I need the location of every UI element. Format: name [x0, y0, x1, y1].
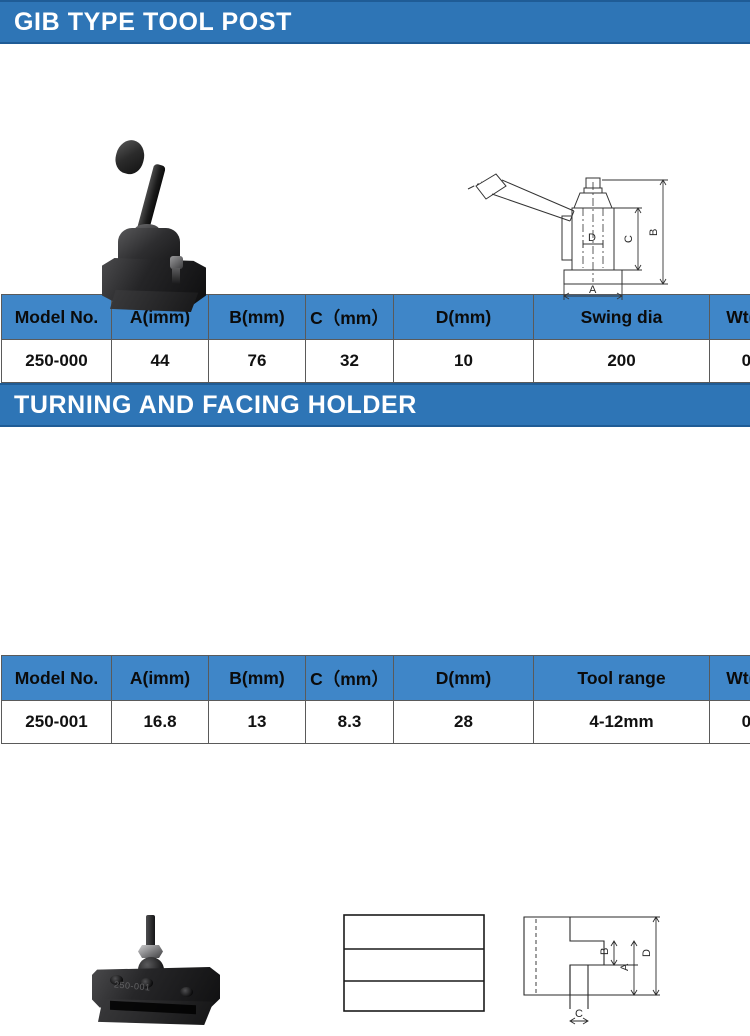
table-cell-a: 44: [112, 340, 209, 383]
table-header-cell: C（mm）: [306, 295, 394, 340]
table-cell-c: 32: [306, 340, 394, 383]
section-title-text: GIB TYPE TOOL POST: [14, 8, 292, 37]
table-cell-swing-dia: 200: [534, 340, 710, 383]
holder-front-view-drawing: [340, 911, 510, 1031]
table-row: 250-000 44 76 32 10 200 0.8: [2, 340, 750, 383]
drawing-label-d: D: [588, 232, 596, 244]
drawing-label-c: C: [575, 1008, 583, 1020]
tool-post-base: [110, 290, 202, 312]
table-header-row: Model No. A(imm) B(mm) C（mm） D(mm) Tool …: [2, 656, 750, 701]
table-cell-model: 250-000: [2, 340, 112, 383]
table-header-cell: Tool range: [534, 656, 710, 701]
specification-table-turning-and-facing-holder: Model No. A(imm) B(mm) C（mm） D(mm) Tool …: [1, 655, 750, 744]
product-showcase-turning-and-facing-holder: 250-001: [0, 427, 750, 655]
table-cell-model: 250-001: [2, 701, 112, 744]
drawing-label-c: C: [623, 235, 635, 243]
table-row: 250-001 16.8 13 8.3 28 4-12mm 0.2: [2, 701, 750, 744]
holder-bolt-hole: [180, 987, 193, 997]
table-cell-tool-range: 4-12mm: [534, 701, 710, 744]
turning-facing-holder-product-photo: 250-001: [88, 915, 248, 1035]
drawing-label-b: B: [648, 229, 660, 236]
table-header-cell: Wt(kg): [710, 656, 750, 701]
table-cell-c: 8.3: [306, 701, 394, 744]
tool-post-technical-drawing: D C B: [462, 156, 688, 311]
holder-side-view-drawing: B A D C: [518, 909, 678, 1036]
table-cell-weight: 0.2: [710, 701, 750, 744]
table-cell-weight: 0.8: [710, 340, 750, 383]
section-header-gib-type-tool-post: GIB TYPE TOOL POST: [0, 0, 750, 44]
table-header-cell: B(mm): [209, 656, 306, 701]
table-header-cell: D(mm): [394, 656, 534, 701]
table-header-cell: Wt(kg): [710, 295, 750, 340]
holder-adjusting-stud: [146, 915, 155, 949]
product-showcase-gib-type-tool-post: D C B: [0, 44, 750, 294]
section-header-turning-and-facing-holder: TURNING AND FACING HOLDER: [0, 383, 750, 427]
table-header-cell: B(mm): [209, 295, 306, 340]
table-cell-b: 13: [209, 701, 306, 744]
table-header-cell: C（mm）: [306, 656, 394, 701]
table-cell-a: 16.8: [112, 701, 209, 744]
tool-post-screw-shaft: [172, 268, 180, 284]
table-header-cell: A(imm): [112, 656, 209, 701]
drawing-label-b: B: [599, 948, 611, 955]
tool-post-lever-knob: [112, 137, 147, 177]
section-title-text: TURNING AND FACING HOLDER: [14, 391, 417, 420]
table-header-cell: Model No.: [2, 295, 112, 340]
drawing-label-d: D: [641, 949, 653, 957]
table-cell-d: 28: [394, 701, 534, 744]
table-cell-d: 10: [394, 340, 534, 383]
tool-post-product-photo: [96, 140, 226, 300]
table-cell-b: 76: [209, 340, 306, 383]
table-header-cell: Model No.: [2, 656, 112, 701]
drawing-label-a: A: [619, 963, 631, 971]
drawing-label-a: A: [589, 284, 597, 296]
